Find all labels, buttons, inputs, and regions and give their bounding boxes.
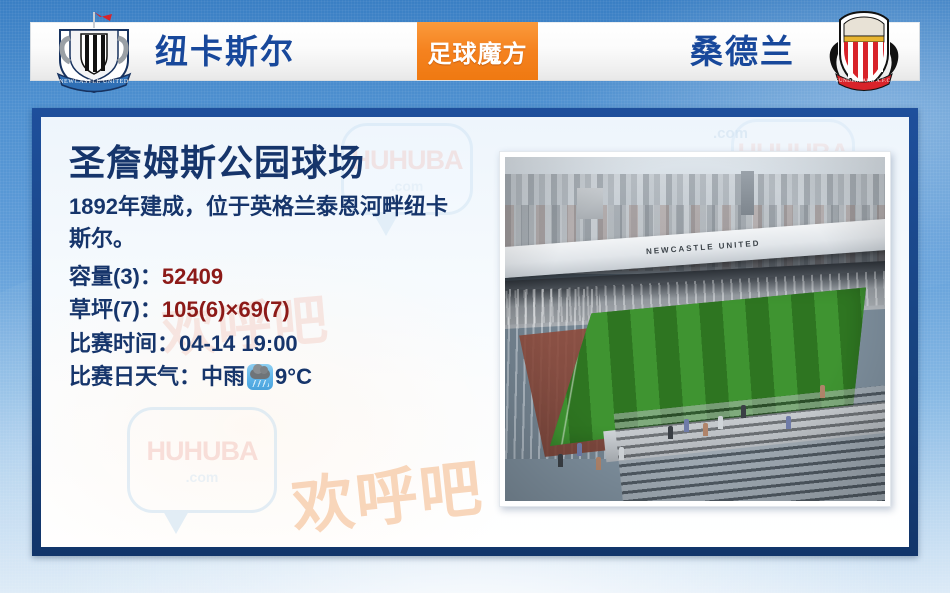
watermark-bubble-lower-text: HUHUBA (147, 436, 258, 467)
home-team-name: 纽卡斯尔 (155, 24, 295, 80)
stat-row-capacity: 容量(3)：52409 (69, 260, 489, 293)
stadium-info-block: 圣詹姆斯公园球场 1892年建成，位于英格兰泰恩河畔纽卡斯尔。 容量(3)：52… (69, 143, 489, 394)
stadium-description: 1892年建成，位于英格兰泰恩河畔纽卡斯尔。 (69, 191, 469, 253)
content-frame: HUHUBA .com HUHUBA .com 欢呼吧 HUHUBA .com (32, 108, 918, 556)
stadium-photo-frame: NEWCASTLE UNITED (499, 151, 891, 507)
content-panel: HUHUBA .com HUHUBA .com 欢呼吧 HUHUBA .com (41, 117, 909, 547)
svg-text:SUNDERLAND A.F.C.: SUNDERLAND A.F.C. (836, 79, 892, 84)
stat-value-kickoff: 04-14 19:00 (179, 331, 298, 356)
stat-value-capacity: 52409 (162, 264, 223, 289)
weather-condition: 中雨 (201, 360, 245, 393)
stat-value-pitch: 105(6)×69(7) (162, 297, 290, 322)
watermark-cheer: 欢呼吧 (287, 437, 487, 547)
stat-row-pitch: 草坪(7)：105(6)×69(7) (69, 293, 489, 326)
rain-icon (247, 364, 273, 390)
stat-label-pitch: 草坪(7)： (69, 297, 162, 322)
stat-label-capacity: 容量(3)： (69, 264, 162, 289)
stat-row-weather: 比赛日天气：中雨 9°C (69, 360, 489, 393)
stadium-photo: NEWCASTLE UNITED (505, 157, 885, 501)
site-logo[interactable]: 足球魔方 (417, 22, 538, 80)
stat-row-kickoff: 比赛时间：04-14 19:00 (69, 327, 489, 360)
stat-label-kickoff: 比赛时间： (69, 331, 179, 356)
watermark-dotcom: .com (713, 125, 748, 142)
weather-temperature: 9°C (275, 360, 312, 393)
sunderland-afc-crest-icon: SUNDERLAND A.F.C. (820, 8, 908, 94)
stadium-title: 圣詹姆斯公园球场 (69, 143, 489, 183)
watermark-bubble-lower: HUHUBA .com (127, 407, 277, 513)
stat-label-weather: 比赛日天气： (69, 360, 201, 393)
site-logo-text: 足球魔方 (428, 34, 528, 69)
newcastle-united-crest-icon: NEWCASTLE UNITED (50, 8, 138, 94)
svg-text:NEWCASTLE UNITED: NEWCASTLE UNITED (59, 79, 129, 85)
slide-root: NEWCASTLE UNITED 纽卡斯尔 足球魔方 桑德兰 SUNDERLAN… (0, 0, 950, 593)
away-team-name: 桑德兰 (690, 24, 795, 80)
photo-vignette (505, 157, 885, 501)
watermark-bubble-lower-dot: .com (186, 469, 219, 485)
